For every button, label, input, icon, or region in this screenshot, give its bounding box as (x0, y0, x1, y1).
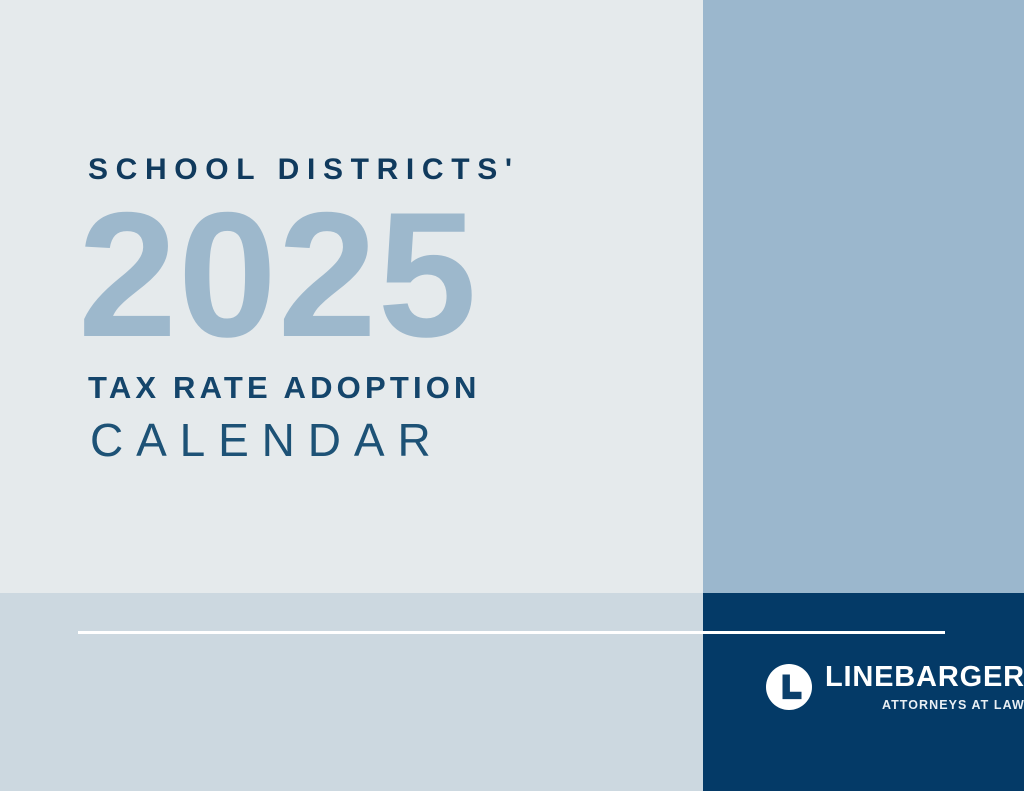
title-block: SCHOOL DISTRICTS' 2025 TAX RATE ADOPTION… (88, 155, 688, 463)
linebarger-logo: LINEBARGER ATTORNEYS AT LAW (766, 663, 1024, 712)
logo-wordmark: LINEBARGER ATTORNEYS AT LAW (825, 663, 1024, 712)
white-horizontal-rule (78, 631, 945, 634)
logo-name: LINEBARGER (825, 663, 1024, 692)
cover-page: SCHOOL DISTRICTS' 2025 TAX RATE ADOPTION… (0, 0, 1024, 791)
title-subtitle: TAX RATE ADOPTION (88, 372, 688, 403)
panel-bottom-left (0, 593, 703, 791)
logo-tagline: ATTORNEYS AT LAW (882, 699, 1024, 712)
title-calendar-word: CALENDAR (90, 417, 688, 463)
linebarger-circle-l-icon (766, 664, 812, 710)
panel-top-right (703, 0, 1024, 593)
title-year: 2025 (78, 199, 688, 350)
